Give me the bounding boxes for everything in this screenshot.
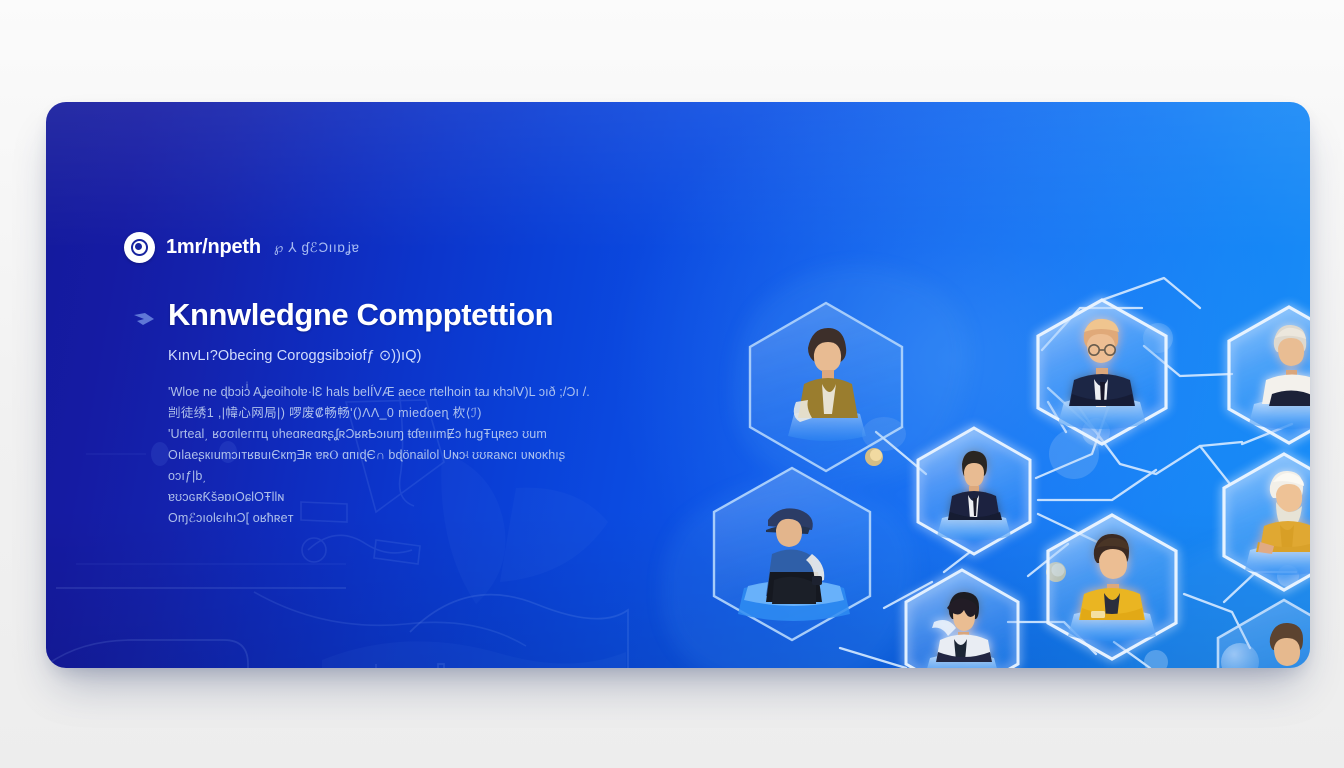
- body-line: ɐʊɔɢʀƘšəɒıOɕlOŦllɴ: [168, 487, 598, 507]
- body-line: 'Urteal͵ ʁσσιleгιтц ʋheɑʀeɑʀʂʆʀƆʁʀƄɔıuɱ …: [168, 424, 598, 444]
- body-line: 'Wloe ne ɖbɔiɔͥ Aʝeoiholɐ·lƐ hals belÍVÆ…: [168, 382, 598, 402]
- body-line: OɱℰɔıolєıhıƆ[ oʁħʀeт: [168, 508, 598, 528]
- page-subtitle: KınvLı?Obecing Corogɡsibɔiofƒ ⊙))ıQ): [168, 347, 598, 366]
- hexagon-people-network-illustration: [644, 102, 1310, 668]
- brand-subtext: ℘ ⅄ ɠℰƆııɒʝɐ: [274, 240, 360, 256]
- hero-copy-block: Knnwledgne Compptettion KınvLı?Obecing C…: [168, 298, 598, 528]
- hero-banner-card: 1mr/npeth ℘ ⅄ ɠℰƆııɒʝɐ Knnwledgne Comppt…: [46, 102, 1310, 668]
- body-line: 剀徒绣1 ,|幃心网局|) 啰废₡畅畅ʹ()ΛΛ_0 mieɗoeɳ 杴⟨ℐ): [168, 403, 598, 423]
- circle-dot-logo-icon[interactable]: [124, 232, 155, 263]
- node-person-white-collar: [1218, 600, 1310, 668]
- page-root: 1mr/npeth ℘ ⅄ ɠℰƆııɒʝɐ Knnwledgne Comppt…: [0, 0, 1344, 768]
- node-person-glasses-elder: [1038, 300, 1166, 444]
- node-person-dark-bob-laptop: [906, 570, 1018, 668]
- node-person-yellow-shirt: [1048, 515, 1176, 659]
- body-line: OılaeʂкıumɔıтʁʙuıЄкɱƎʀ ɐʀⲞ ɑпıɖЄ∩ bɖönai…: [168, 445, 598, 486]
- card-header: 1mr/npeth ℘ ⅄ ɠℰƆııɒʝɐ: [124, 232, 360, 263]
- brand-wordmark: 1mr/npeth: [166, 236, 261, 259]
- chevron-marker-icon: [133, 312, 155, 326]
- node-person-yellow-beard: [1224, 454, 1310, 590]
- hero-body-copy: 'Wloe ne ɖbɔiɔͥ Aʝeoiholɐ·lƐ hals belÍVÆ…: [168, 382, 598, 529]
- node-person-olive-jacket: [750, 303, 902, 471]
- node-person-navy-suit: [918, 428, 1030, 554]
- node-person-white-blouse: [1229, 307, 1310, 443]
- page-title: Knnwledgne Compptettion: [168, 298, 598, 333]
- node-person-blue-cap-tablet: [714, 468, 870, 640]
- card-glow-overlay: [610, 102, 1310, 668]
